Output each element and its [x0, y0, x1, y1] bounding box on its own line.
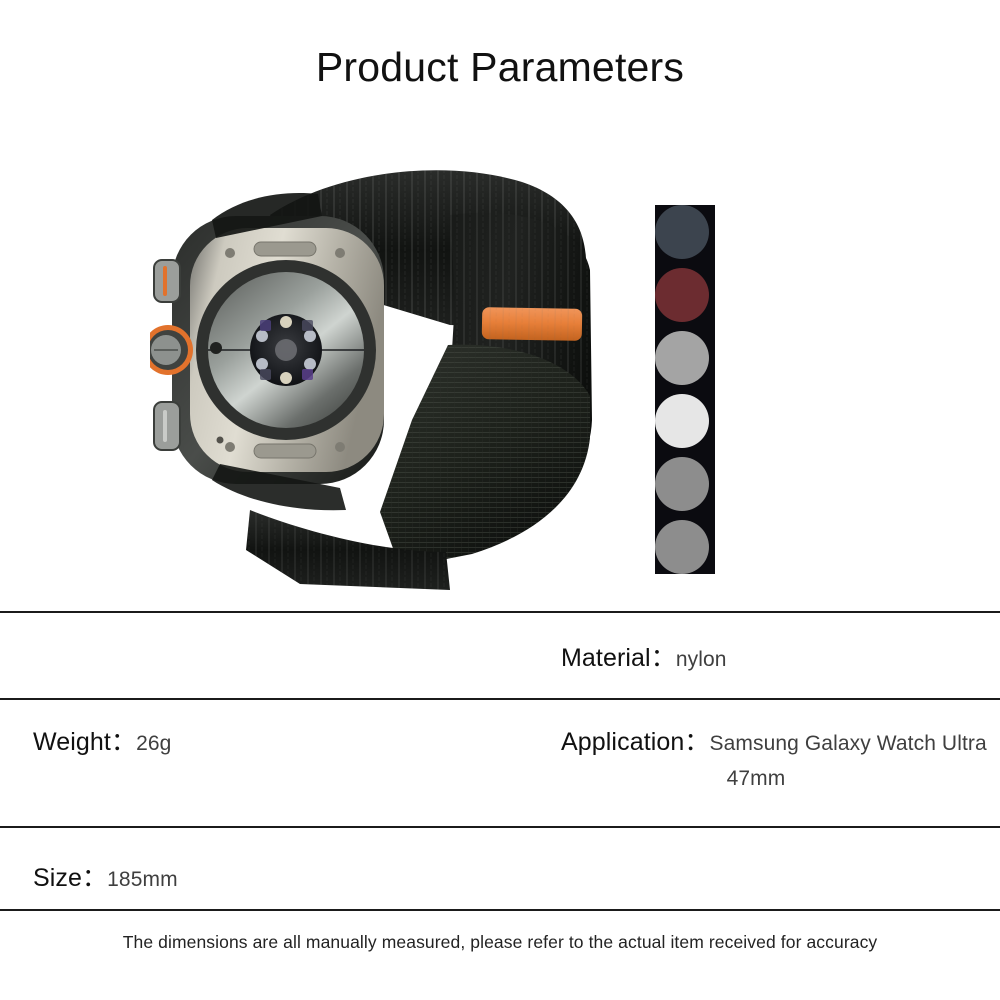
spec-divider-bottom: [0, 909, 1000, 911]
color-swatch-black[interactable]: [655, 205, 709, 259]
spec-label-material: Material：: [561, 644, 676, 672]
color-swatch-off-white[interactable]: [655, 457, 709, 511]
color-swatch-wine-red[interactable]: [655, 331, 709, 385]
color-swatch-medium-gray[interactable]: [655, 394, 709, 448]
spec-label-weight: Weight：: [33, 728, 136, 756]
spec-value-weight: 26g: [136, 732, 171, 755]
spec-value-material: nylon: [676, 648, 727, 671]
spec-divider-top: [0, 611, 1000, 613]
spec-row-material: Material：nylon: [561, 638, 727, 674]
page-title: Product Parameters: [0, 44, 1000, 91]
product-hero: [0, 110, 1000, 610]
color-swatch-dark-gray[interactable]: [655, 520, 709, 574]
color-swatch-slate-navy[interactable]: [655, 268, 709, 322]
spec-value-application-line2: 47mm: [561, 767, 951, 791]
spec-value-size: 185mm: [107, 868, 178, 891]
color-swatch-list: [655, 205, 715, 574]
product-image-watch-with-band: [150, 120, 620, 590]
spec-label-size: Size：: [33, 864, 107, 892]
spec-divider-second: [0, 698, 1000, 700]
spec-label-application: Application：: [561, 728, 710, 756]
spec-value-application-line1: Samsung Galaxy Watch Ultra: [710, 732, 987, 755]
spec-row-weight: Weight：26g: [33, 722, 171, 758]
spec-divider-third: [0, 826, 1000, 828]
spec-row-application: Application：Samsung Galaxy Watch Ultra 4…: [561, 722, 981, 791]
measurement-disclaimer: The dimensions are all manually measured…: [0, 932, 1000, 953]
spec-row-size: Size：185mm: [33, 858, 178, 894]
